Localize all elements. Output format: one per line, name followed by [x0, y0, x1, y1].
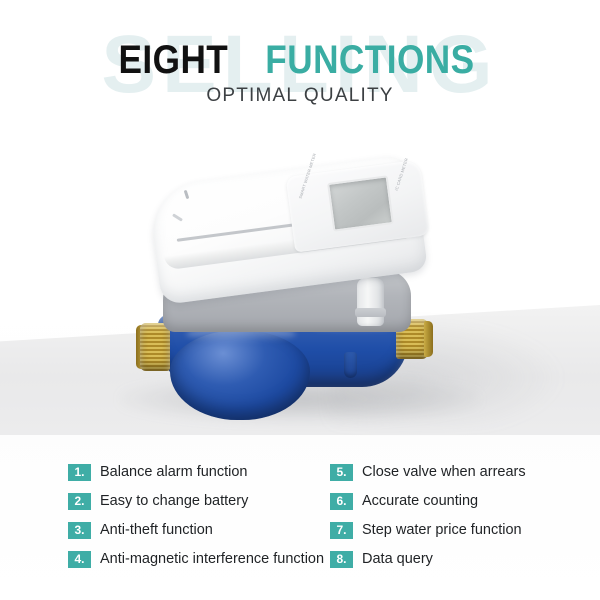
- subtitle-text: OPTIMAL QUALITY: [0, 85, 600, 107]
- feature-item: 2. Easy to change battery: [68, 491, 330, 520]
- feature-label: Anti-magnetic interference function: [100, 549, 324, 569]
- feature-column-right: 5. Close valve when arrears 6. Accurate …: [330, 462, 592, 578]
- feature-number-badge: 8.: [330, 551, 353, 568]
- feature-number-badge: 4.: [68, 551, 91, 568]
- feature-number-badge: 7.: [330, 522, 353, 539]
- title-word-functions: FUNCTIONS: [265, 38, 474, 82]
- feature-item: 3. Anti-theft function: [68, 520, 330, 549]
- feature-item: 7. Step water price function: [330, 520, 592, 549]
- meter-measuring-chamber: [170, 330, 310, 420]
- feature-item: 1. Balance alarm function: [68, 462, 330, 491]
- header-section: SELLING EIGHT FUNCTIONS OPTIMAL QUALITY: [0, 0, 600, 130]
- feature-item: 5. Close valve when arrears: [330, 462, 592, 491]
- brass-inlet-thread: [140, 323, 170, 371]
- feature-label: Data query: [362, 549, 433, 569]
- water-meter-product-image: SMART WATER METER IC CARD METER: [0, 130, 600, 455]
- feature-label: Easy to change battery: [100, 491, 248, 511]
- meter-body-tab: [344, 352, 357, 378]
- feature-label: Step water price function: [362, 520, 522, 540]
- feature-number-badge: 6.: [330, 493, 353, 510]
- product-stage: SMART WATER METER IC CARD METER: [0, 130, 600, 455]
- meter-side-connector-band: [355, 308, 386, 317]
- feature-item: 8. Data query: [330, 549, 592, 578]
- feature-item: 4. Anti-magnetic interference function: [68, 549, 330, 578]
- feature-number-badge: 2.: [68, 493, 91, 510]
- feature-number-badge: 3.: [68, 522, 91, 539]
- feature-list-section: 1. Balance alarm function 2. Easy to cha…: [0, 462, 600, 600]
- page-title: EIGHT FUNCTIONS: [0, 38, 600, 91]
- feature-label: Anti-theft function: [100, 520, 213, 540]
- feature-label: Accurate counting: [362, 491, 478, 511]
- feature-number-badge: 1.: [68, 464, 91, 481]
- feature-label: Balance alarm function: [100, 462, 248, 482]
- brass-outlet-cap: [424, 321, 433, 357]
- feature-item: 6. Accurate counting: [330, 491, 592, 520]
- infographic-page: SELLING EIGHT FUNCTIONS OPTIMAL QUALITY: [0, 0, 600, 600]
- feature-number-badge: 5.: [330, 464, 353, 481]
- meter-side-connector: [357, 278, 384, 326]
- lcd-display: [327, 175, 394, 232]
- feature-column-left: 1. Balance alarm function 2. Easy to cha…: [68, 462, 330, 578]
- feature-label: Close valve when arrears: [362, 462, 526, 482]
- title-word-eight: EIGHT: [119, 38, 229, 82]
